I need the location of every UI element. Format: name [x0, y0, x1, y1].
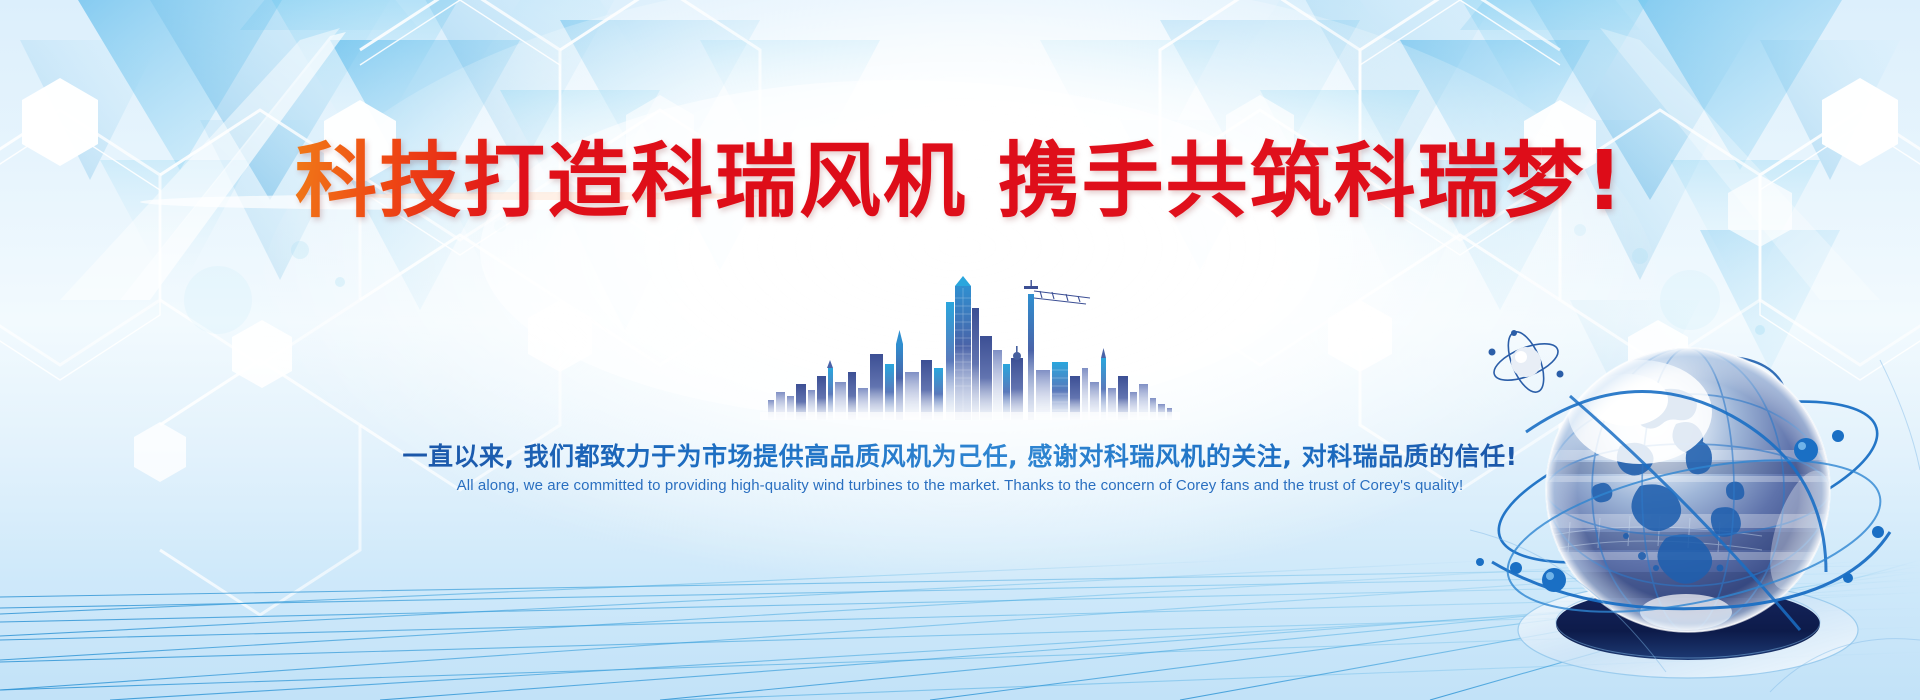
subtitle-chinese: 一直以来, 我们都致力于为市场提供高品质风机为己任, 感谢对科瑞风机的关注, 对… — [402, 437, 1517, 473]
city-skyline-illustration — [760, 272, 1180, 420]
subtitle-english: All along, we are committed to providing… — [457, 477, 1464, 494]
promo-banner: 科技打造科瑞风机 携手共筑科瑞梦! — [0, 0, 1920, 700]
glass-globe-illustration — [1470, 300, 1920, 700]
